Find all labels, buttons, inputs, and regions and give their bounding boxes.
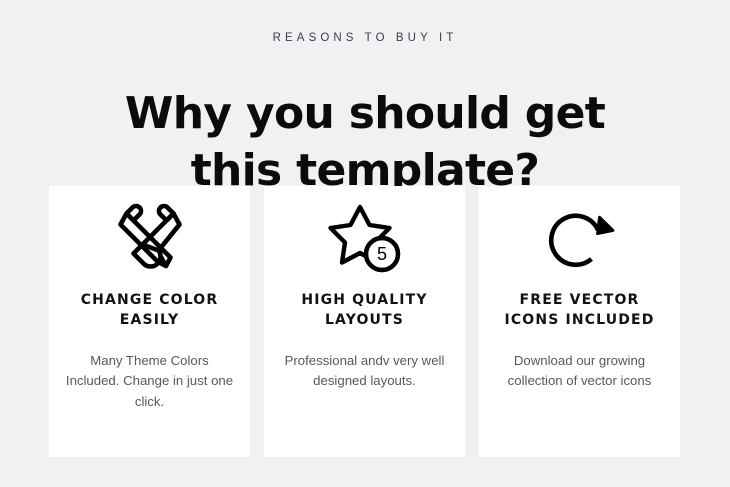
feature-card-change-color-easily[interactable]: CHANGE COLOR EASILY Many Theme Colors In… — [49, 186, 250, 457]
feature-card-title: FREE VECTOR ICONS INCLUDED — [493, 290, 666, 331]
feature-card-title: CHANGE COLOR EASILY — [63, 290, 236, 331]
section-eyebrow: REASONS TO BUY IT — [0, 33, 730, 45]
feature-card-list: CHANGE COLOR EASILY Many Theme Colors In… — [49, 186, 681, 457]
feature-card-title: HIGH QUALITY LAYOUTS — [278, 290, 451, 331]
feature-card-body: Professional andv very well designed lay… — [281, 351, 449, 392]
feature-card-body: Download our growing collection of vecto… — [496, 351, 664, 392]
pencil-brush-icon — [113, 186, 187, 290]
svg-text:5: 5 — [376, 244, 386, 264]
feature-card-free-vector-icons[interactable]: FREE VECTOR ICONS INCLUDED Download our … — [479, 186, 680, 457]
star-rating-five-icon: 5 — [327, 186, 403, 290]
page-title-line-1: Why you should get — [0, 86, 730, 142]
feature-card-body: Many Theme Colors Included. Change in ju… — [66, 351, 234, 412]
page-title: Why you should get this template? — [0, 86, 730, 199]
feature-card-high-quality-layouts[interactable]: 5 HIGH QUALITY LAYOUTS Professional andv… — [264, 186, 465, 457]
feature-section: REASONS TO BUY IT Why you should get thi… — [0, 0, 730, 487]
refresh-circle-arrow-icon — [541, 186, 619, 290]
